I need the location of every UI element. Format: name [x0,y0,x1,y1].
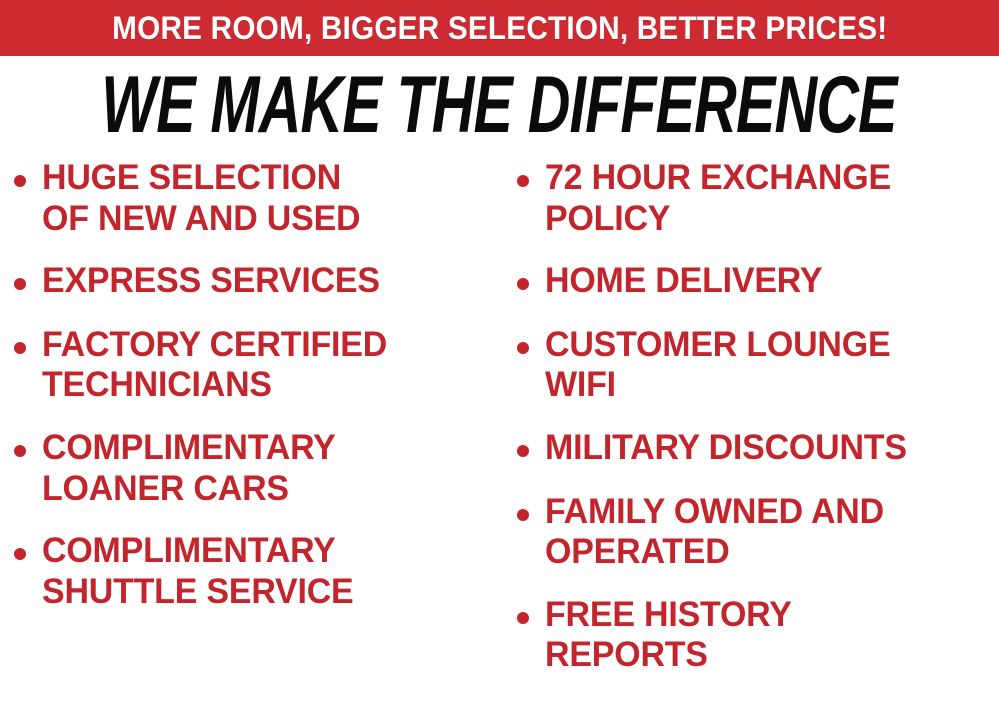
bullet-dot-icon [517,509,529,521]
list-item: COMPLIMENTARY LOANER CARS [14,428,505,509]
list-item: EXPRESS SERVICES [14,261,505,302]
list-item-label: 72 HOUR EXCHANGE POLICY [545,158,891,239]
list-item-label: COMPLIMENTARY SHUTTLE SERVICE [42,531,354,612]
list-item-label: FAMILY OWNED AND OPERATED [545,492,884,573]
list-item-label: COMPLIMENTARY LOANER CARS [42,428,336,509]
list-item: COMPLIMENTARY SHUTTLE SERVICE [14,531,505,612]
bullet-dot-icon [14,342,26,354]
list-item: 72 HOUR EXCHANGE POLICY [517,158,999,239]
list-item: MILITARY DISCOUNTS [517,428,999,469]
page-title: WE MAKE THE DIFFERENCE [102,65,897,146]
list-item-label: CUSTOMER LOUNGE WIFI [545,325,890,406]
benefits-column-left: HUGE SELECTION OF NEW AND USED EXPRESS S… [0,158,505,638]
list-item-label: HUGE SELECTION OF NEW AND USED [42,158,360,239]
bullet-dot-icon [14,548,26,560]
list-item: HOME DELIVERY [517,261,999,302]
headline-container: WE MAKE THE DIFFERENCE [0,64,999,146]
promo-banner-text: MORE ROOM, BIGGER SELECTION, BETTER PRIC… [112,12,887,44]
list-item: FREE HISTORY REPORTS [517,595,999,676]
list-item-label: MILITARY DISCOUNTS [545,428,907,469]
bullet-dot-icon [14,278,26,290]
bullet-dot-icon [14,445,26,457]
bullet-dot-icon [517,278,529,290]
benefits-column-right: 72 HOUR EXCHANGE POLICY HOME DELIVERY CU… [505,158,999,702]
bullet-dot-icon [517,175,529,187]
list-item: FAMILY OWNED AND OPERATED [517,492,999,573]
list-item-label: FACTORY CERTIFIED TECHNICIANS [42,325,387,406]
list-item: CUSTOMER LOUNGE WIFI [517,325,999,406]
promo-banner: MORE ROOM, BIGGER SELECTION, BETTER PRIC… [0,0,999,56]
list-item-label: HOME DELIVERY [545,261,822,302]
bullet-dot-icon [517,445,529,457]
bullet-dot-icon [517,342,529,354]
bullet-dot-icon [517,612,529,624]
list-item-label: EXPRESS SERVICES [42,261,380,302]
bullet-dot-icon [14,175,26,187]
list-item-label: FREE HISTORY REPORTS [545,595,792,676]
benefits-columns: HUGE SELECTION OF NEW AND USED EXPRESS S… [0,158,999,692]
list-item: HUGE SELECTION OF NEW AND USED [14,158,505,239]
list-item: FACTORY CERTIFIED TECHNICIANS [14,325,505,406]
